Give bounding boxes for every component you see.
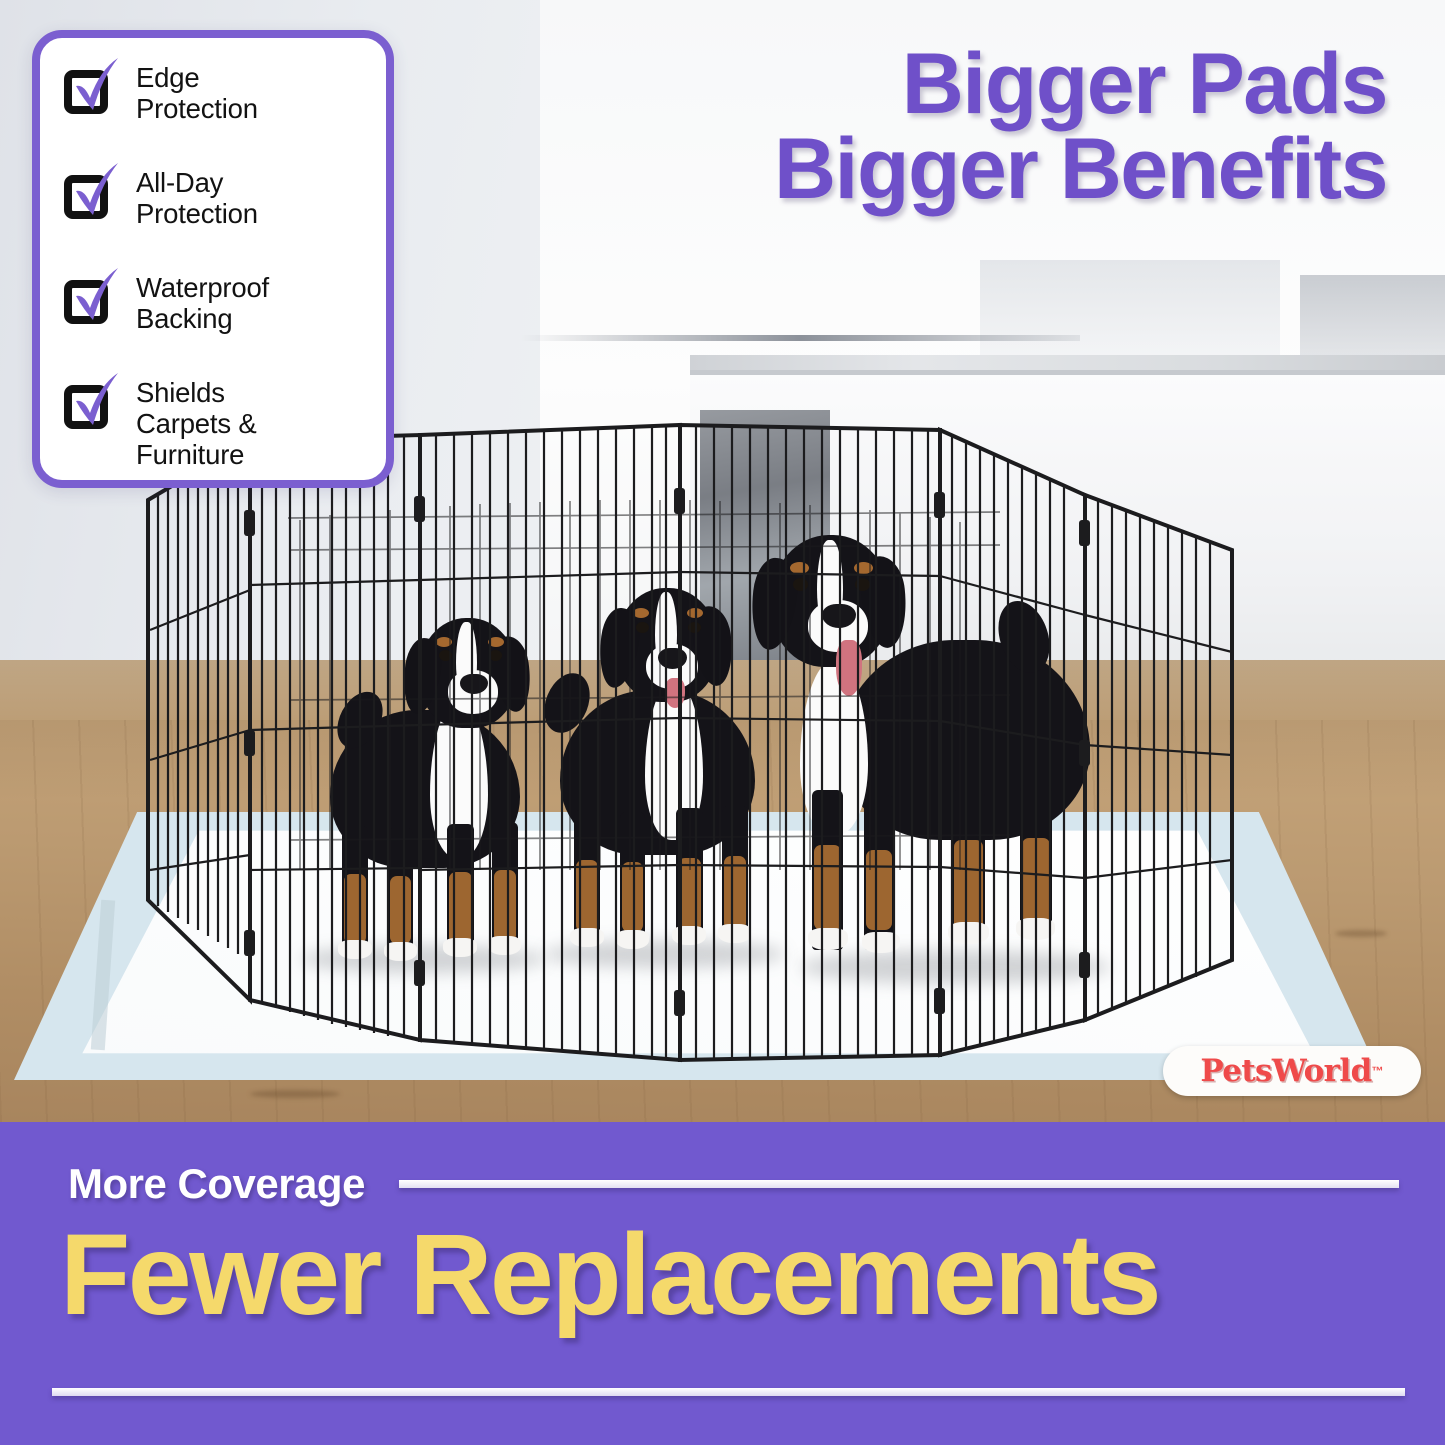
- brand-logo: PetsWorld™: [1163, 1046, 1421, 1096]
- checkbox-checked-icon: [62, 64, 118, 116]
- feature-item-edge-protection: Edge Protection: [62, 60, 368, 124]
- product-marketing-image: Bigger Pads Bigger Benefits Edge Protect…: [0, 0, 1445, 1445]
- bottom-banner: More Coverage Fewer Replacements: [0, 1122, 1445, 1445]
- feature-item-all-day-protection: All-Day Protection: [62, 165, 368, 229]
- trademark-symbol: ™: [1372, 1064, 1384, 1078]
- features-card: Edge Protection All-Day Protection Water…: [32, 30, 394, 488]
- banner-rule-bottom: [52, 1388, 1405, 1396]
- feature-label: Shields Carpets & Furniture: [136, 375, 256, 470]
- glass-shelf: [520, 335, 1080, 341]
- headline-line-1: Bigger Pads: [774, 42, 1387, 127]
- banner-subtitle-row: More Coverage: [68, 1160, 1399, 1208]
- feature-item-waterproof-backing: Waterproof Backing: [62, 270, 368, 334]
- banner-headline: Fewer Replacements: [60, 1218, 1405, 1333]
- checkbox-checked-icon: [62, 274, 118, 326]
- feature-item-shields-carpets-furniture: Shields Carpets & Furniture: [62, 375, 368, 470]
- headline-line-2: Bigger Benefits: [774, 127, 1387, 212]
- brand-name: PetsWorld: [1200, 1053, 1371, 1089]
- checkbox-checked-icon: [62, 379, 118, 431]
- feature-label: All-Day Protection: [136, 165, 258, 229]
- feature-label: Edge Protection: [136, 60, 258, 124]
- feature-label: Waterproof Backing: [136, 270, 269, 334]
- banner-rule-top: [399, 1180, 1399, 1188]
- wire-playpen: [0, 400, 1445, 1100]
- checkbox-checked-icon: [62, 169, 118, 221]
- banner-subtitle: More Coverage: [68, 1160, 365, 1208]
- page-title: Bigger Pads Bigger Benefits: [774, 42, 1387, 212]
